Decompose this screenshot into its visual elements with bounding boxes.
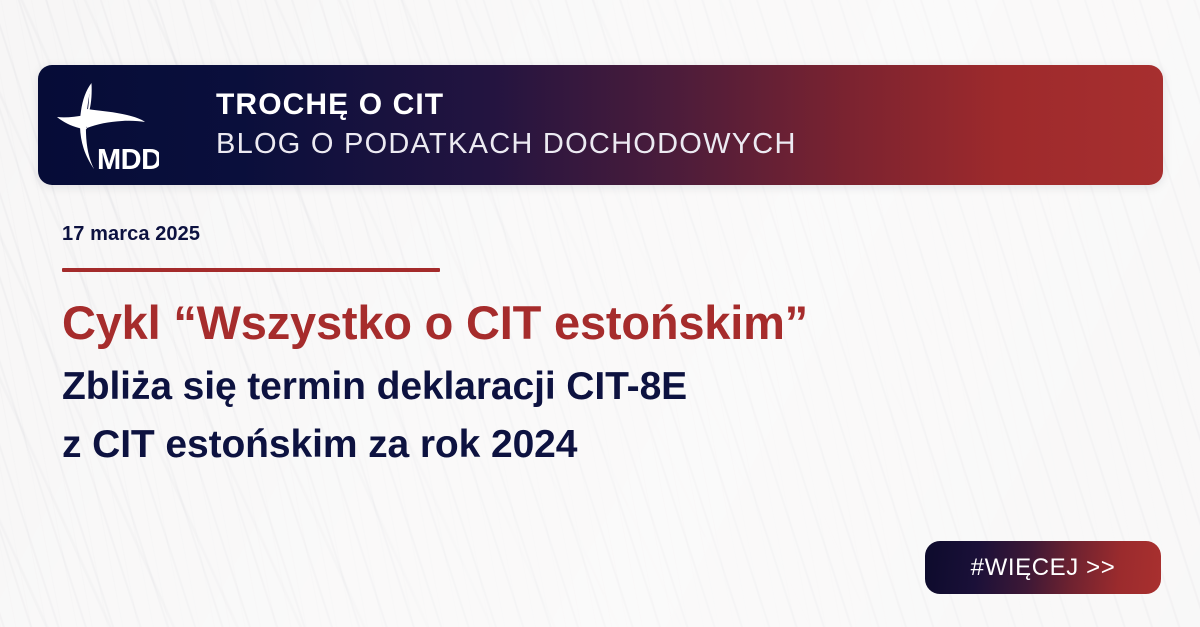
read-more-button[interactable]: #WIĘCEJ >> (925, 541, 1161, 594)
article-block: 17 marca 2025 Cykl “Wszystko o CIT estoń… (62, 224, 1122, 469)
headline-line-2: z CIT estońskim za rok 2024 (62, 421, 1122, 469)
banner-subtitle: BLOG O PODATKACH DOCHODOWYCH (216, 127, 797, 161)
article-headline: Zbliża się termin deklaracji CIT-8E z CI… (62, 363, 1122, 468)
mddp-wordmark: MDDP (97, 144, 159, 176)
brand-banner: MDDP TROCHĘ O CIT BLOG O PODATKACH DOCHO… (38, 65, 1163, 185)
series-title: Cykl “Wszystko o CIT estońskim” (62, 298, 1122, 347)
promo-card: MDDP TROCHĘ O CIT BLOG O PODATKACH DOCHO… (0, 0, 1200, 627)
publish-date: 17 marca 2025 (62, 224, 1122, 244)
title-divider (62, 268, 440, 272)
banner-text-block: TROCHĘ O CIT BLOG O PODATKACH DOCHODOWYC… (216, 89, 797, 161)
headline-line-1: Zbliża się termin deklaracji CIT-8E (62, 363, 1122, 411)
banner-title: TROCHĘ O CIT (216, 89, 797, 121)
mddp-bird-logo-icon: MDDP (47, 73, 159, 177)
mddp-logo: MDDP (38, 65, 168, 185)
